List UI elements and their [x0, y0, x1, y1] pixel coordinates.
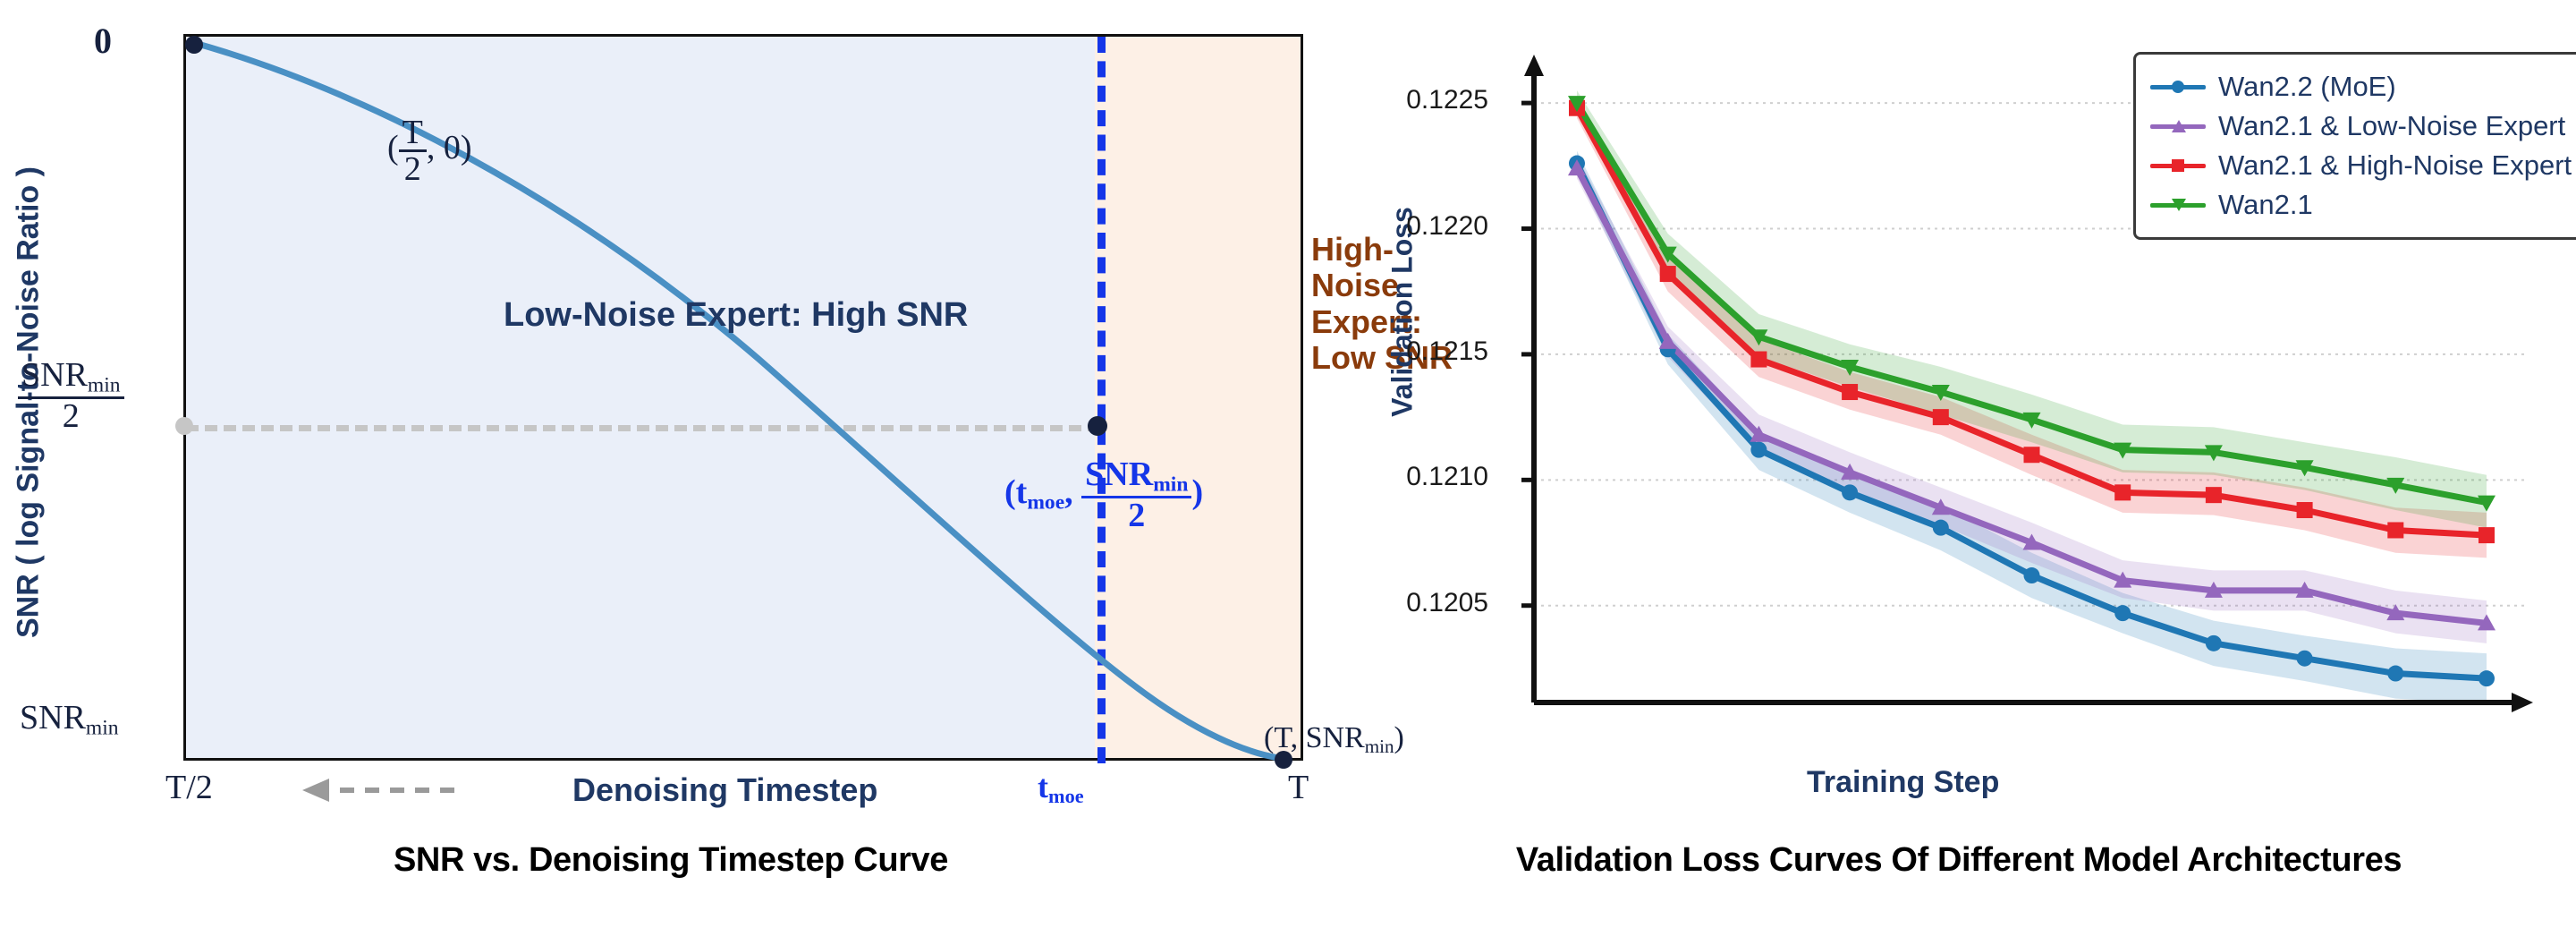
snr-xtick-T: T [1288, 768, 1309, 807]
legend-item-2[interactable]: Wan2.1 & High-Noise Expert [2150, 146, 2572, 185]
loss-y-tick-label: 0.1220 [1406, 211, 1488, 242]
legend-item-1[interactable]: Wan2.1 & Low-Noise Expert [2150, 106, 2572, 146]
left-figure-caption: SNR vs. Denoising Timestep Curve [0, 841, 1342, 880]
loss-y-tick-label: 0.1225 [1406, 85, 1488, 115]
x-axis-arrow-icon [2512, 693, 2533, 712]
annotation-tmoe-point: (tmoe, SNRmin 2 ) [1004, 457, 1203, 532]
legend-swatch-icon [2150, 115, 2206, 137]
snr-point-origin [185, 36, 203, 54]
low-noise-region-label: Low-Noise Expert: High SNR [504, 296, 968, 335]
legend-swatch-icon [2150, 194, 2206, 216]
loss-y-tick-label: 0.1205 [1406, 588, 1488, 618]
legend-label: Wan2.1 & High-Noise Expert [2218, 149, 2572, 182]
legend-swatch-icon [2150, 155, 2206, 176]
legend-label: Wan2.1 [2218, 189, 2313, 221]
figure-page: SNR ( log Signal-to-Noise Ratio ) 0 SNRm… [0, 0, 2576, 928]
legend-label: Wan2.2 (MoE) [2218, 71, 2396, 103]
right-figure-caption: Validation Loss Curves Of Different Mode… [1342, 841, 2576, 880]
snr-plot-area: Low-Noise Expert: High SNR High- Noise E… [183, 34, 1303, 761]
annotation-origin-point: ( T 2 , 0) [387, 115, 472, 186]
snr-curve [186, 37, 1306, 763]
legend-item-3[interactable]: Wan2.1 [2150, 185, 2572, 225]
loss-legend: Wan2.2 (MoE)Wan2.1 & Low-Noise ExpertWan… [2133, 52, 2576, 240]
denoising-direction-arrow-icon [295, 777, 456, 804]
loss-y-tick-label: 0.1210 [1406, 462, 1488, 492]
legend-item-0[interactable]: Wan2.2 (MoE) [2150, 67, 2572, 106]
snr-ytick-snrmin: SNRmin [20, 698, 119, 741]
snr-xtick-tmoe: tmoe [1038, 768, 1084, 808]
loss-chart-panel: Validation Loss Training Step 0.12050.12… [1342, 0, 2576, 928]
snr-ytick-half-snrmin: SNRmin 2 [18, 358, 124, 433]
y-axis-arrow-icon [1524, 55, 1544, 76]
snr-axis-dot-half [175, 417, 193, 435]
loss-x-axis-title: Training Step [1807, 765, 1999, 800]
snr-diagram-panel: SNR ( log Signal-to-Noise Ratio ) 0 SNRm… [0, 0, 1342, 928]
snr-xtick-t-half: T/2 [165, 768, 213, 807]
loss-y-tick-label: 0.1215 [1406, 336, 1488, 367]
snr-point-tmoe [1088, 416, 1107, 436]
legend-swatch-icon [2150, 76, 2206, 98]
snr-x-axis-label: Denoising Timestep [572, 771, 877, 809]
snr-ytick-zero: 0 [94, 20, 112, 62]
legend-label: Wan2.1 & Low-Noise Expert [2218, 110, 2565, 142]
